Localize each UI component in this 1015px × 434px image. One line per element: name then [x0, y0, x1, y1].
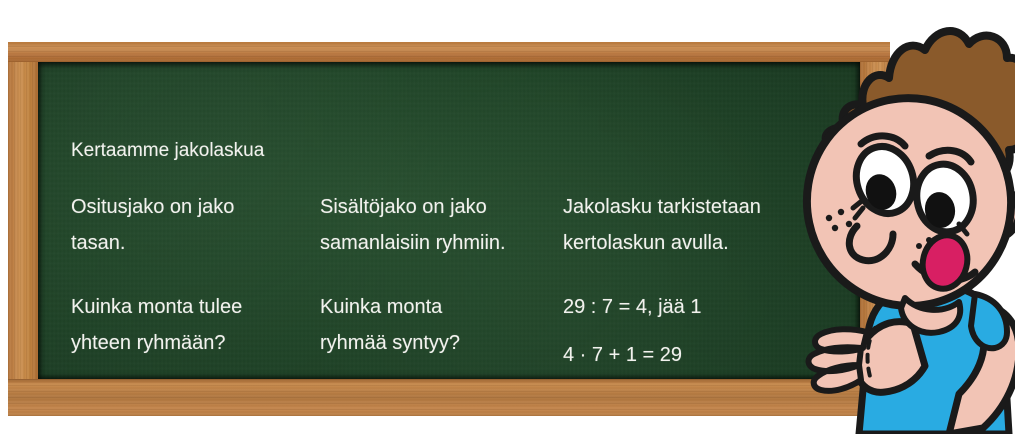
board-paragraph: 4 · 7 + 1 = 29	[563, 337, 761, 373]
board-paragraph: 29 : 7 = 4, jää 1	[563, 289, 761, 325]
boy-head-group	[788, 31, 1015, 333]
shoulder-sleeve	[971, 294, 1007, 348]
board-paragraph: Ositusjako on jakotasan.	[71, 189, 242, 261]
board-text-line: 29 : 7 = 4, jää 1	[563, 289, 761, 325]
hand-fingers	[808, 329, 867, 391]
board-text-line: yhteen ryhmään?	[71, 325, 242, 361]
board-text-line: 4 · 7 + 1 = 29	[563, 337, 761, 373]
frame-top-rail	[8, 42, 890, 62]
frame-bottom-rail	[8, 379, 890, 416]
board-text-line: Jakolasku tarkistetaan	[563, 189, 761, 225]
board-text-line: Ositusjako on jako	[71, 189, 242, 225]
board-text-line: samanlaisiin ryhmiin.	[320, 225, 506, 261]
board-text-line: kertolaskun avulla.	[563, 225, 761, 261]
board-column-3: Jakolasku tarkistetaankertolaskun avulla…	[563, 189, 761, 373]
cartoon-boy	[763, 0, 1015, 434]
board-title: Kertaamme jakolaskua	[71, 141, 264, 160]
board-paragraph: Kuinka monta tuleeyhteen ryhmään?	[71, 289, 242, 361]
board-column-2: Sisältöjako on jakosamanlaisiin ryhmiin.…	[320, 189, 506, 361]
board-text-line: ryhmää syntyy?	[320, 325, 506, 361]
board-text-line: Kuinka monta	[320, 289, 506, 325]
board-paragraph: Kuinka montaryhmää syntyy?	[320, 289, 506, 361]
board-column-1: Ositusjako on jakotasan.Kuinka monta tul…	[71, 189, 242, 361]
board-paragraph: Jakolasku tarkistetaankertolaskun avulla…	[563, 189, 761, 261]
chalkboard: Kertaamme jakolaskua Ositusjako on jakot…	[8, 42, 890, 416]
board-text-line: Sisältöjako on jako	[320, 189, 506, 225]
board-text-line: tasan.	[71, 225, 242, 261]
board-text-line: Kuinka monta tulee	[71, 289, 242, 325]
frame-left-rail	[8, 42, 38, 416]
illustration-canvas: Kertaamme jakolaskua Ositusjako on jakot…	[0, 0, 1015, 434]
board-paragraph: Sisältöjako on jakosamanlaisiin ryhmiin.	[320, 189, 506, 261]
